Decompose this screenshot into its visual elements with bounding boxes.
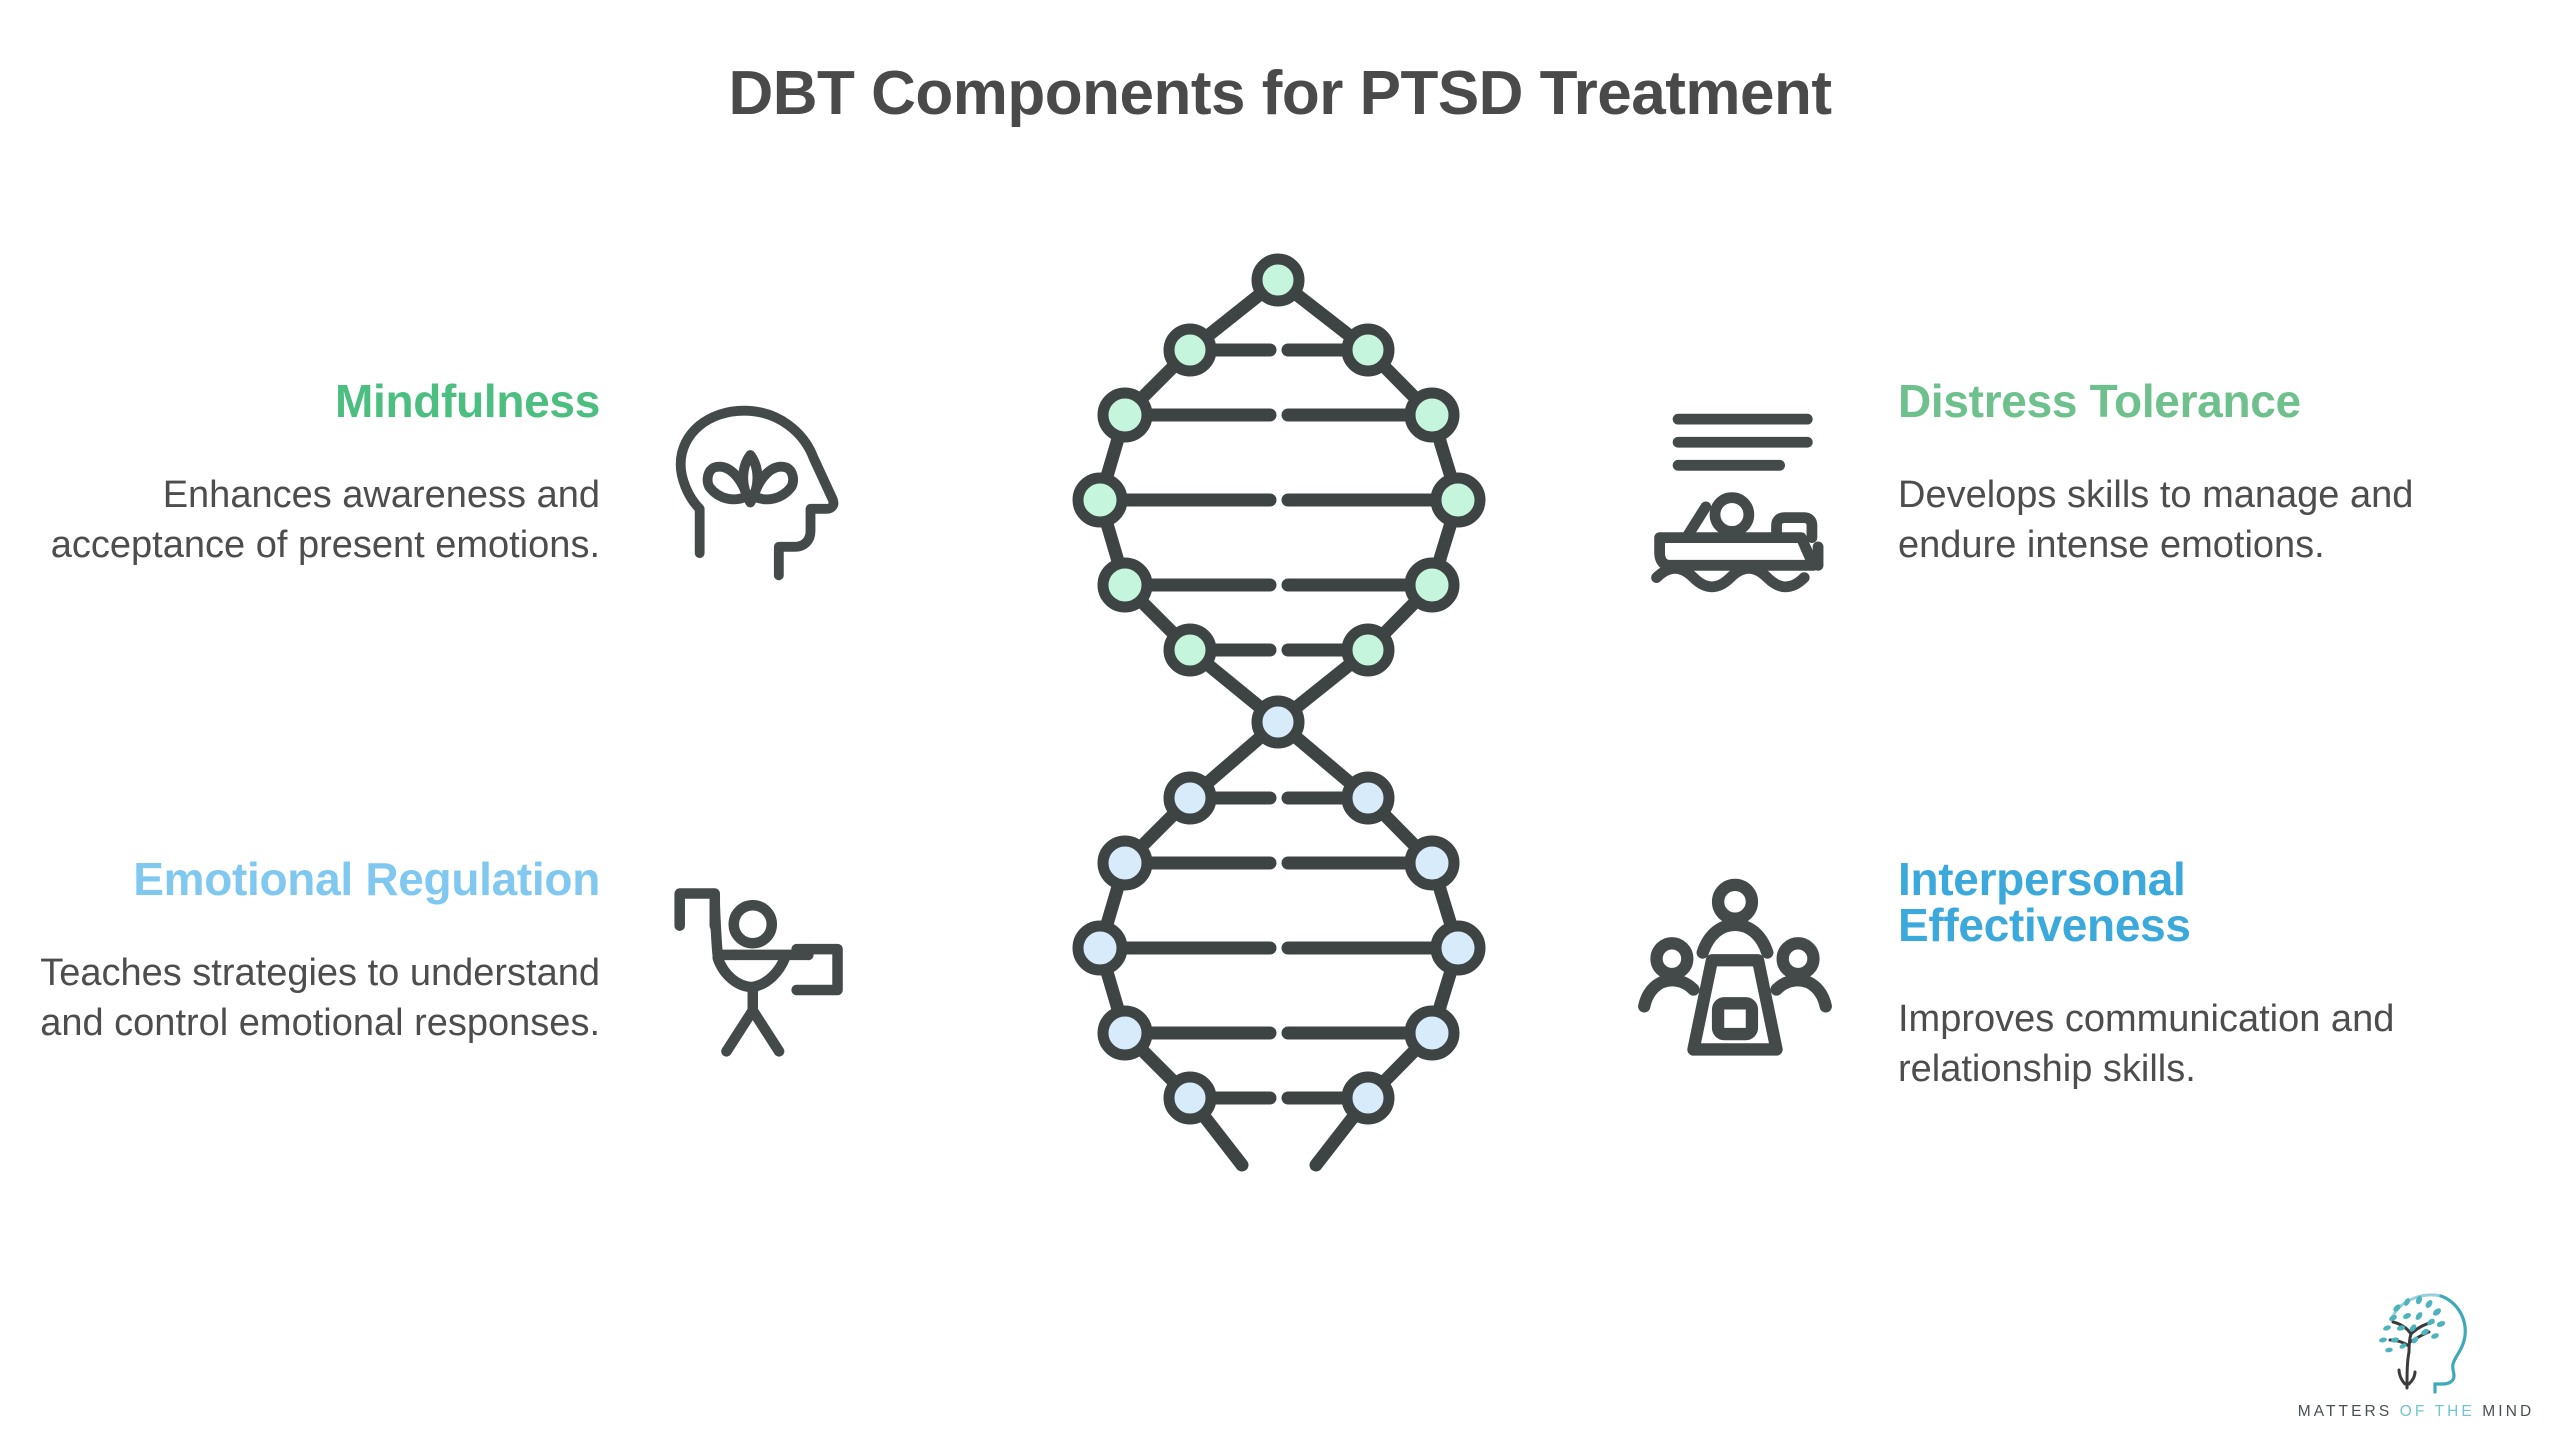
component-text-distress-tolerance: Distress Tolerance Develops skills to ma… (1898, 378, 2458, 570)
logo-wordmark: MATTERS OF THE MIND (2298, 1403, 2535, 1421)
page-title: DBT Components for PTSD Treatment (0, 58, 2560, 129)
component-block-mindfulness: Mindfulness Enhances awareness and accep… (40, 378, 878, 608)
logo-word-mind: MIND (2482, 1403, 2534, 1420)
component-description-distress-tolerance: Develops skills to manage and endure int… (1898, 470, 2458, 570)
component-text-mindfulness: Mindfulness Enhances awareness and accep… (40, 378, 600, 570)
component-text-emotional-regulation: Emotional Regulation Teaches strategies … (40, 856, 600, 1048)
component-description-emotional-regulation: Teaches strategies to understand and con… (40, 948, 600, 1048)
group-meeting-icon (1620, 856, 1850, 1086)
tree-head-profile-icon (2357, 1288, 2475, 1401)
logo-word-matters: MATTERS (2298, 1403, 2393, 1420)
person-balancing-icon (648, 856, 878, 1086)
component-block-distress-tolerance: Distress Tolerance Develops skills to ma… (1620, 378, 2458, 608)
brand-logo: MATTERS OF THE MIND (2282, 1288, 2550, 1430)
head-lotus-icon (648, 378, 878, 608)
component-block-emotional-regulation: Emotional Regulation Teaches strategies … (40, 856, 878, 1086)
component-heading-mindfulness: Mindfulness (40, 378, 600, 424)
motorboat-waves-icon (1620, 378, 1850, 608)
component-heading-emotional-regulation: Emotional Regulation (40, 856, 600, 902)
component-description-interpersonal-effectiveness: Improves communication and relationship … (1898, 994, 2458, 1094)
infographic-canvas: DBT Components for PTSD Treatment Mindfu… (0, 0, 2560, 1440)
component-description-mindfulness: Enhances awareness and acceptance of pre… (40, 470, 600, 570)
component-block-interpersonal-effectiveness: Interpersonal Effectiveness Improves com… (1620, 856, 2458, 1094)
component-heading-distress-tolerance: Distress Tolerance (1898, 378, 2458, 424)
logo-word-of-the: OF THE (2400, 1403, 2475, 1420)
component-heading-interpersonal-effectiveness: Interpersonal Effectiveness (1898, 856, 2458, 948)
component-text-interpersonal-effectiveness: Interpersonal Effectiveness Improves com… (1898, 856, 2458, 1094)
dna-double-helix-icon (1020, 240, 1540, 1320)
